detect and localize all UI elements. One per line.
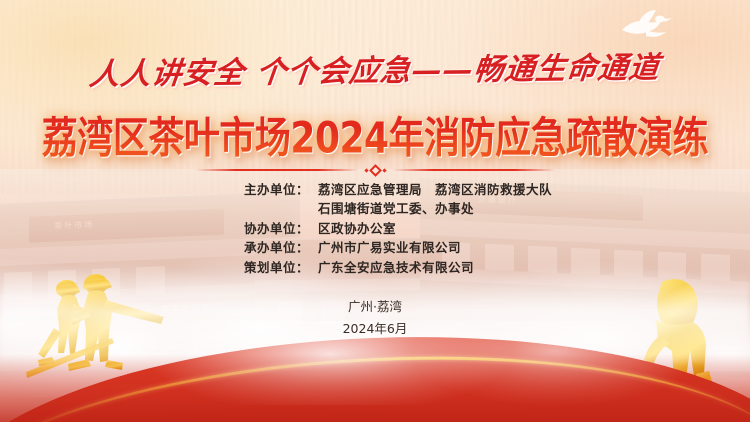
organizer-list: 主办单位： 荔湾区应急管理局 荔湾区消防救援大队 石围塘街道党工委、办事处 协办… [0,180,750,277]
footer-location: 广州·荔湾 [0,296,750,318]
organizer-label: 策划单位： [225,258,309,277]
divider-line-right [392,169,556,171]
organizer-value: 广东全安应急技术有限公司 [309,258,474,277]
poster-content: 人人讲安全 个个会应急——畅通生命通道 荔湾区茶叶市场2024年消防应急疏散演练… [0,0,750,422]
organizer-value: 广州市广易实业有限公司 [309,238,461,257]
organizer-value-line2: 石围塘街道党工委、办事处 [225,199,474,218]
footer-block: 广州·荔湾 2024年6月 [0,296,750,340]
organizer-row: 承办单位： 广州市广易实业有限公司 [225,238,525,257]
organizer-label: 承办单位： [225,238,309,257]
organizer-value: 荔湾区应急管理局 荔湾区消防救援大队 [309,180,552,199]
organizer-row: 主办单位： 荔湾区应急管理局 荔湾区消防救援大队 [225,180,525,199]
organizer-value: 区政协办公室 [309,219,396,238]
organizer-row-continued: 石围塘街道党工委、办事处 [225,199,525,218]
organizer-row: 策划单位： 广东全安应急技术有限公司 [225,258,525,277]
footer-date: 2024年6月 [0,318,750,340]
slogan-text: 人人讲安全 个个会应急——畅通生命通道 [0,41,750,94]
page-title: 荔湾区茶叶市场2024年消防应急疏散演练 [0,104,750,165]
organizer-label: 协办单位： [225,219,309,238]
divider-line-left [195,169,359,171]
organizer-label: 主办单位： [225,180,309,199]
divider [195,163,555,177]
organizer-row: 协办单位： 区政协办公室 [225,219,525,238]
diamond-ornament-icon [365,166,386,175]
poster-canvas: 茶叶市场 荔湾远达茶厂 交通银行 [0,0,750,422]
